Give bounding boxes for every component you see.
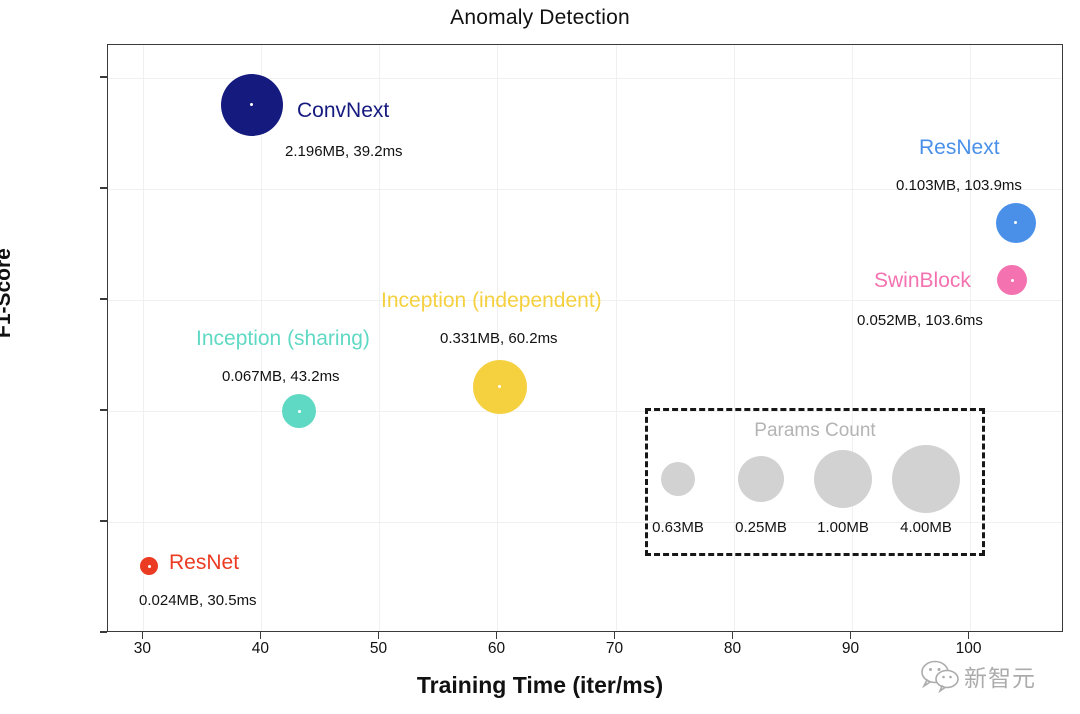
bubble-center-dot [250,103,253,106]
y-tick-mark [100,187,107,189]
x-tick-mark [142,632,144,639]
data-bubble[interactable] [140,557,158,575]
series-name-label: SwinBlock [874,269,971,293]
bubble-center-dot [298,410,301,413]
legend-size-label: 0.25MB [735,519,787,536]
y-tick-mark [100,76,107,78]
data-bubble[interactable] [282,394,316,428]
y-axis-label: F1-Score [0,248,16,338]
series-name-label: ResNet [169,551,239,575]
series-name-label: Inception (sharing) [196,327,370,351]
legend-size-bubble [661,462,695,496]
legend-size-label: 4.00MB [900,519,952,536]
y-tick-mark [100,409,107,411]
size-legend-title: Params Count [645,420,985,442]
data-bubble[interactable] [221,74,283,136]
x-tick-label: 90 [842,640,859,658]
wechat-icon [920,659,960,693]
y-tick-mark [100,298,107,300]
x-axis-label: Training Time (iter/ms) [0,672,1080,699]
series-name-label: ResNext [919,136,1000,160]
x-tick-label: 80 [724,640,741,658]
x-tick-mark [850,632,852,639]
series-name-label: Inception (independent) [381,289,602,313]
series-stat-label: 0.024MB, 30.5ms [139,592,257,609]
series-stat-label: 0.331MB, 60.2ms [440,330,558,347]
legend-size-bubble [892,445,960,513]
bubble-center-dot [1014,221,1017,224]
gridline-vertical [143,45,144,631]
legend-size-bubble [814,450,872,508]
data-bubble[interactable] [996,203,1036,243]
series-name-label: ConvNext [297,99,389,123]
x-tick-label: 60 [488,640,505,658]
chart-title: Anomaly Detection [0,6,1080,30]
x-tick-label: 70 [606,640,623,658]
series-stat-label: 0.052MB, 103.6ms [857,312,983,329]
y-tick-mark [100,631,107,633]
gridline-vertical [379,45,380,631]
series-stat-label: 0.103MB, 103.9ms [896,177,1022,194]
legend-size-bubble [738,456,784,502]
series-stat-label: 2.196MB, 39.2ms [285,143,403,160]
x-tick-mark [614,632,616,639]
bubble-chart-figure: Anomaly Detection F1-Score Training Time… [0,0,1080,714]
x-tick-mark [378,632,380,639]
legend-size-label: 0.63MB [652,519,704,536]
series-stat-label: 0.067MB, 43.2ms [222,368,340,385]
x-tick-mark [968,632,970,639]
gridline-vertical [616,45,617,631]
x-tick-label: 30 [134,640,151,658]
x-tick-label: 50 [370,640,387,658]
x-tick-label: 40 [252,640,269,658]
bubble-center-dot [1011,279,1014,282]
bubble-center-dot [148,565,151,568]
x-tick-mark [496,632,498,639]
x-tick-mark [260,632,262,639]
watermark-text: 新智元 [964,659,1036,693]
data-bubble[interactable] [473,360,527,414]
watermark: 新智元 [920,648,1080,704]
x-tick-mark [732,632,734,639]
data-bubble[interactable] [997,265,1027,295]
bubble-center-dot [498,385,501,388]
legend-size-label: 1.00MB [817,519,869,536]
y-tick-mark [100,520,107,522]
